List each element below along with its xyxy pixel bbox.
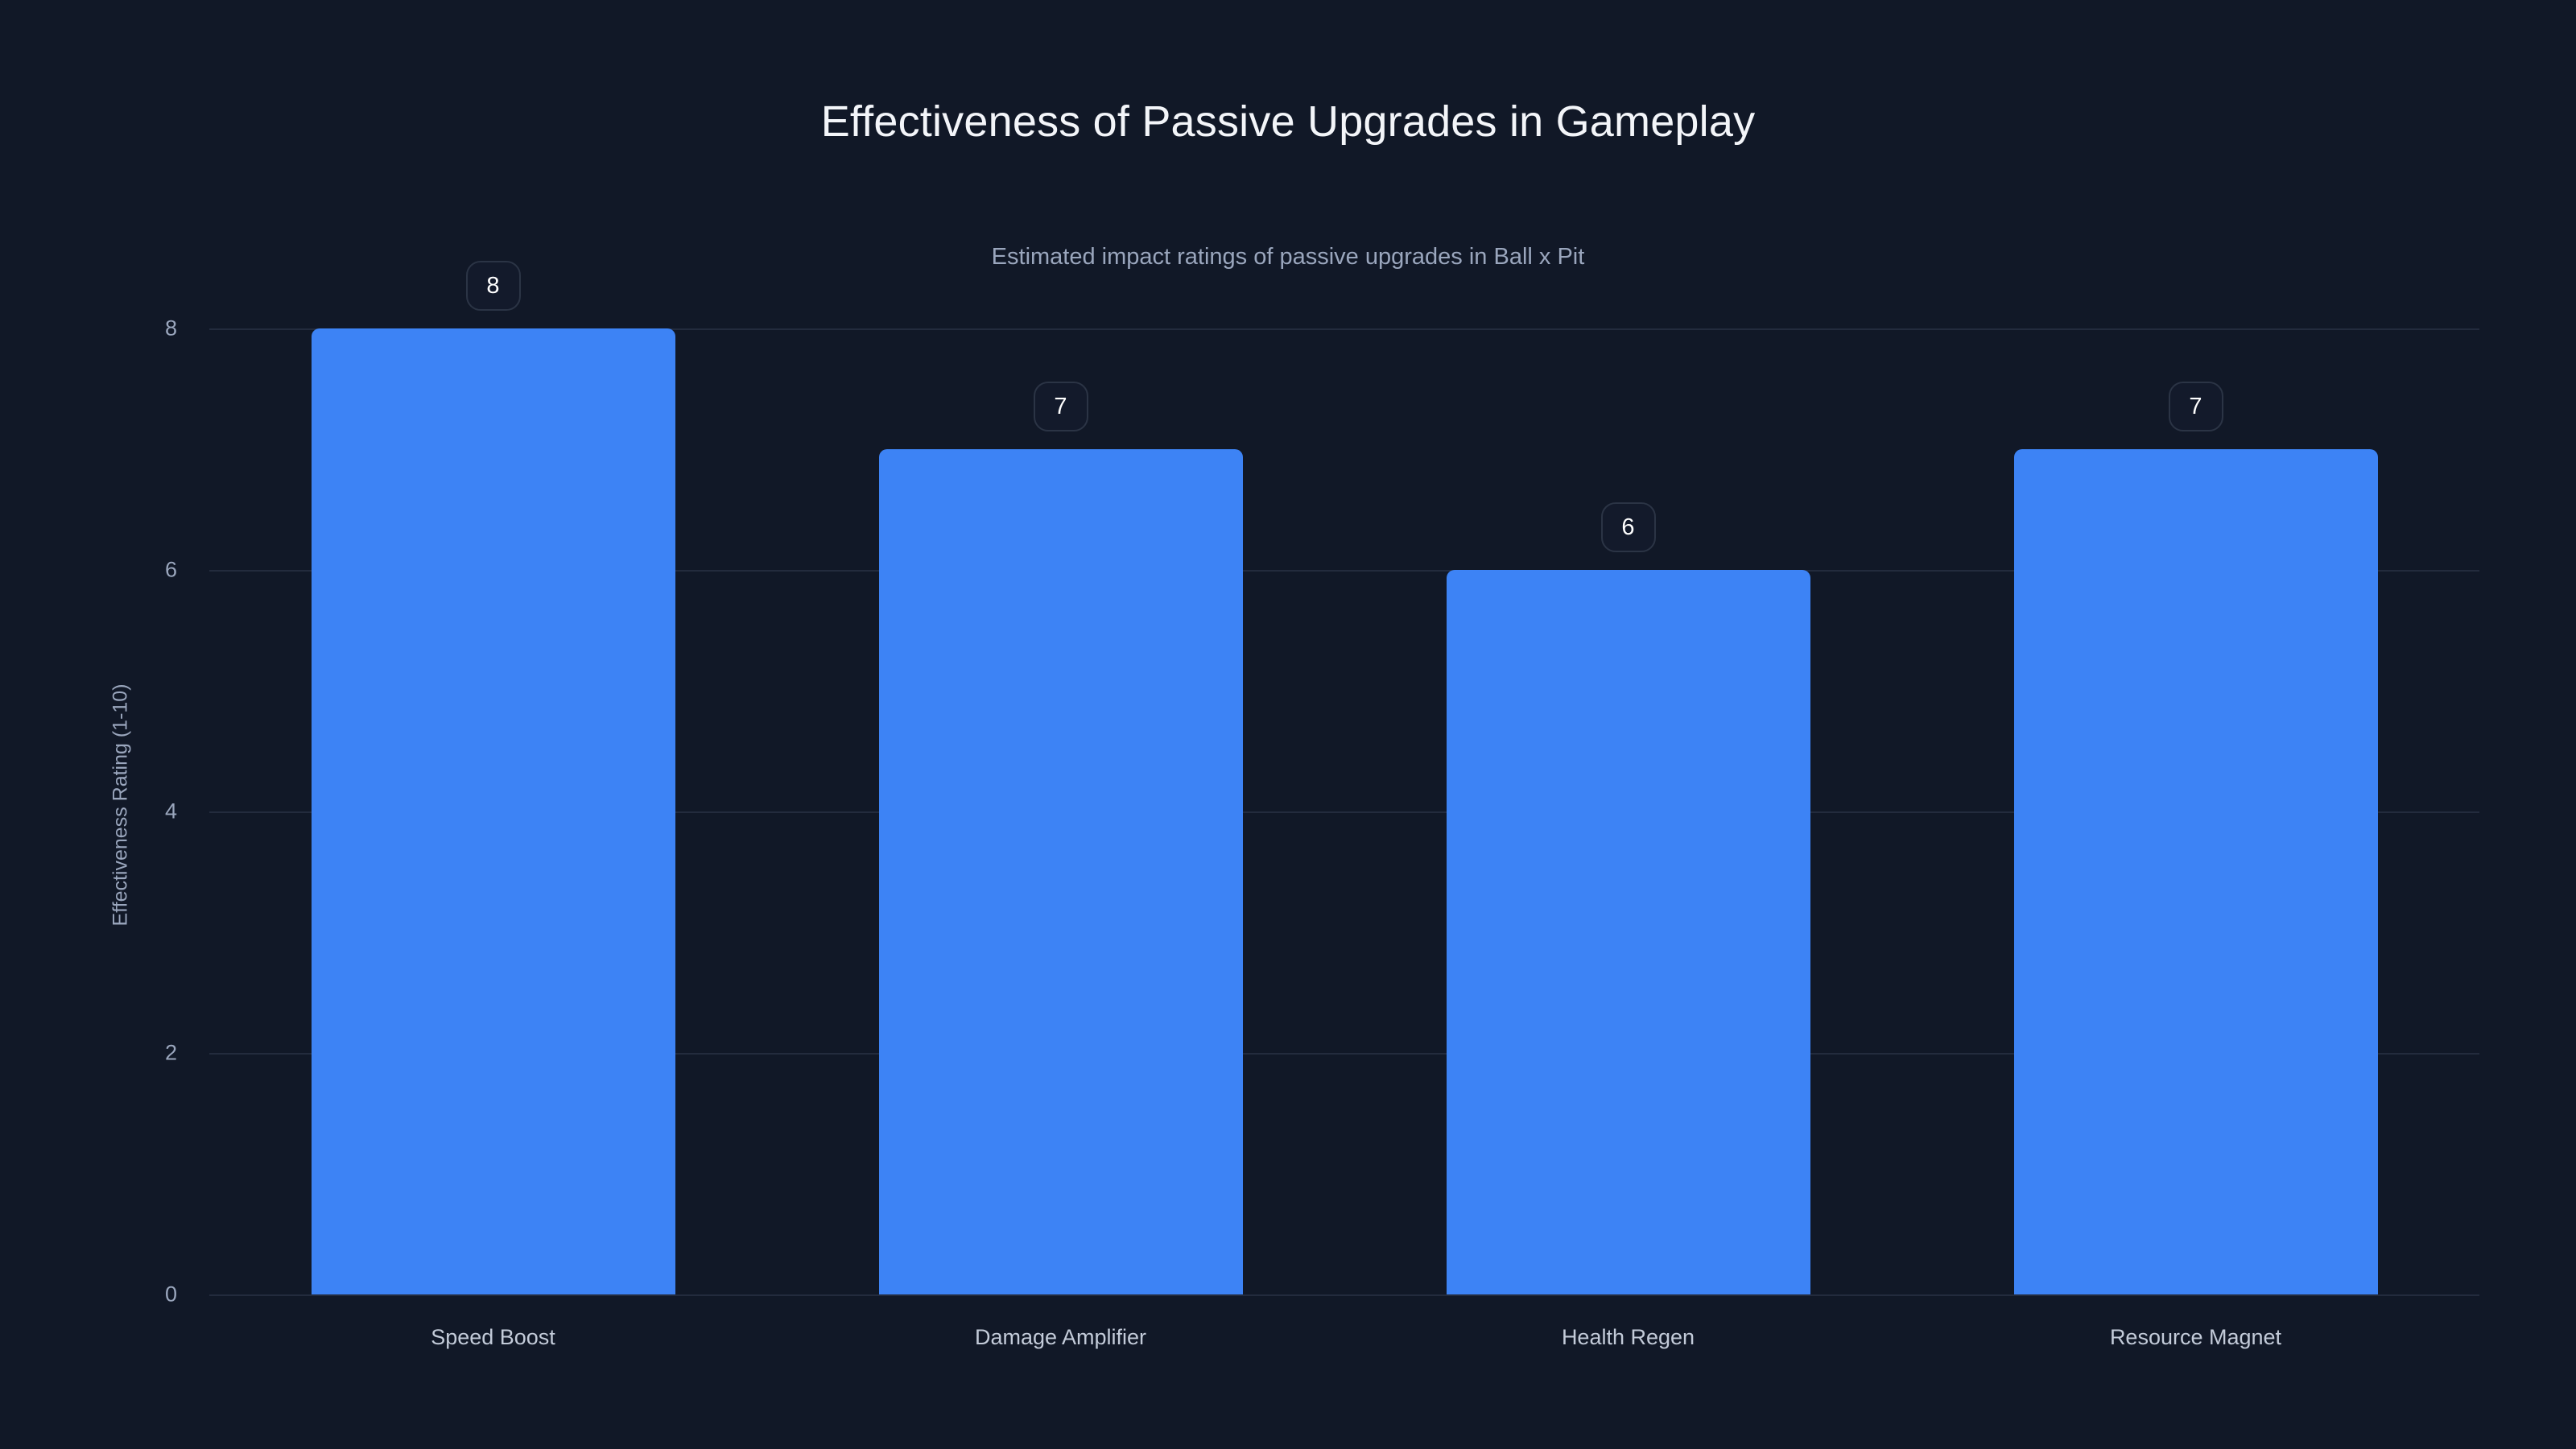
bar-value-badge: 8 [466,261,521,311]
x-axis-category-label: Damage Amplifier [975,1325,1146,1350]
bar[interactable] [312,328,675,1294]
x-axis-category-label: Resource Magnet [2110,1325,2281,1350]
chart-subtitle: Estimated impact ratings of passive upgr… [0,244,2576,270]
plot-area [209,328,2479,1294]
bar[interactable] [2014,449,2378,1294]
chart-canvas: Effectiveness of Passive Upgrades in Gam… [0,0,2576,1449]
bar-value-badge: 7 [2169,382,2223,431]
x-axis-category-label: Speed Boost [431,1325,555,1350]
y-axis-tick-label: 8 [80,316,177,341]
bar-value-badge: 6 [1601,502,1656,552]
y-axis-tick-label: 6 [80,558,177,583]
bar-value-badge: 7 [1034,382,1088,431]
y-axis-tick-label: 2 [80,1041,177,1066]
y-axis-tick-label: 4 [80,799,177,824]
y-axis-tick-label: 0 [80,1282,177,1307]
x-axis-category-label: Health Regen [1562,1325,1695,1350]
bar[interactable] [879,449,1243,1294]
gridline [209,1294,2479,1296]
chart-title: Effectiveness of Passive Upgrades in Gam… [0,97,2576,147]
bar[interactable] [1447,570,1810,1294]
